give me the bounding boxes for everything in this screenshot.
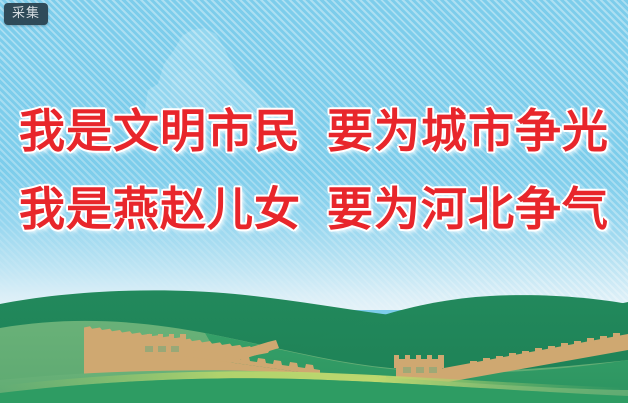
green-rolling-hills <box>0 276 628 403</box>
slogan-line-1-part-a: 我是文明市民 <box>19 104 301 158</box>
slogan-line-1-part-b: 要为城市争光 <box>327 104 609 158</box>
capture-button[interactable]: 采集 <box>4 3 48 25</box>
slogan-line-2-part-a: 我是燕赵儿女 <box>19 182 301 236</box>
slogan-line-1: 我是文明市民要为城市争光 <box>0 92 628 170</box>
slogan-line-2-part-b: 要为河北争气 <box>327 182 609 236</box>
slogan-block: 我是文明市民要为城市争光 我是燕赵儿女要为河北争气 <box>0 92 628 248</box>
poster-banner: 我是文明市民要为城市争光 我是燕赵儿女要为河北争气 采集 <box>0 0 628 403</box>
slogan-line-2: 我是燕赵儿女要为河北争气 <box>0 170 628 248</box>
